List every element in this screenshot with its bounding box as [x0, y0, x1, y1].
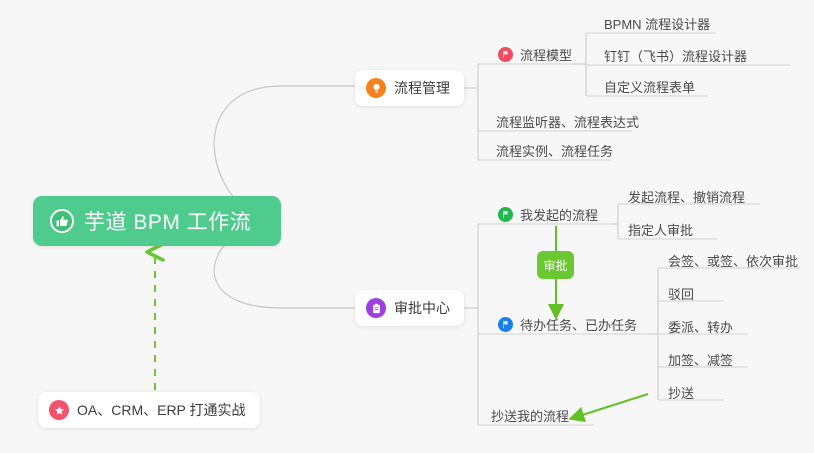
leaf-node-process-instance-task[interactable]: 流程实例、流程任务	[494, 140, 613, 160]
leaf-node-add-remove-sign[interactable]: 加签、减签	[666, 349, 733, 369]
sub-node-todo-done-tasks[interactable]: 待办任务、已办任务	[496, 314, 637, 334]
leaf-node-label: 发起流程、撤销流程	[628, 187, 745, 206]
approve-tag[interactable]: 审批	[537, 251, 574, 279]
sub-node-my-initiated-processes[interactable]: 我发起的流程	[496, 204, 598, 224]
root-label: 芋道 BPM 工作流	[84, 206, 251, 236]
lightbulb-icon	[366, 78, 386, 98]
leaf-node-bpmn-designer[interactable]: BPMN 流程设计器	[602, 13, 710, 33]
sub-node-label: 我发起的流程	[520, 205, 598, 224]
leaf-node-label: 加签、减签	[668, 350, 733, 369]
flag-icon	[498, 47, 513, 62]
leaf-node-label: 自定义流程表单	[604, 77, 695, 96]
bottom-node-label: OA、CRM、ERP 打通实战	[77, 400, 246, 420]
leaf-node-label: 抄送我的流程	[491, 406, 569, 425]
leaf-node-label: 钉钉（飞书）流程设计器	[604, 46, 747, 65]
leaf-node-assignee-approval[interactable]: 指定人审批	[626, 219, 693, 239]
root-node[interactable]: 芋道 BPM 工作流	[33, 196, 281, 246]
leaf-node-label: 会签、或签、依次审批	[668, 251, 798, 270]
leaf-node-custom-form[interactable]: 自定义流程表单	[602, 76, 695, 96]
thumbs-up-icon	[50, 209, 74, 233]
leaf-node-label: 指定人审批	[628, 220, 693, 239]
approve-tag-label: 审批	[543, 257, 567, 274]
leaf-node-label: 委派、转办	[668, 317, 733, 336]
bottom-node-integration[interactable]: OA、CRM、ERP 打通实战	[38, 392, 260, 428]
mindmap-canvas: 芋道 BPM 工作流 流程管理 流程模型 BPMN 流程设计器 钉钉（飞书）流程…	[0, 0, 814, 453]
leaf-node-countersign-modes[interactable]: 会签、或签、依次审批	[666, 250, 798, 270]
leaf-node-reject[interactable]: 驳回	[666, 283, 694, 303]
leaf-node-process-listener-expression[interactable]: 流程监听器、流程表达式	[494, 111, 639, 131]
sub-node-label: 流程模型	[520, 45, 572, 64]
leaf-node-label: 流程实例、流程任务	[496, 141, 613, 160]
leaf-node-cc-to-me-processes[interactable]: 抄送我的流程	[489, 405, 569, 425]
leaf-node-label: 流程监听器、流程表达式	[496, 112, 639, 131]
flag-icon	[498, 317, 513, 332]
branch-label: 审批中心	[394, 298, 450, 318]
leaf-node-dingtalk-feishu-designer[interactable]: 钉钉（飞书）流程设计器	[602, 45, 747, 65]
leaf-node-delegate-transfer[interactable]: 委派、转办	[666, 316, 733, 336]
leaf-node-start-cancel-process[interactable]: 发起流程、撤销流程	[626, 186, 745, 206]
flag-icon	[498, 207, 513, 222]
leaf-node-cc[interactable]: 抄送	[666, 382, 694, 402]
branch-node-approval-center[interactable]: 审批中心	[355, 290, 464, 326]
sub-node-process-model[interactable]: 流程模型	[496, 44, 572, 64]
clipboard-icon	[366, 298, 386, 318]
branch-node-process-management[interactable]: 流程管理	[355, 70, 464, 106]
leaf-node-label: 驳回	[668, 284, 694, 303]
star-icon	[49, 400, 69, 420]
sub-node-label: 待办任务、已办任务	[520, 315, 637, 334]
leaf-node-label: 抄送	[668, 383, 694, 402]
branch-label: 流程管理	[394, 78, 450, 98]
leaf-node-label: BPMN 流程设计器	[604, 14, 710, 33]
